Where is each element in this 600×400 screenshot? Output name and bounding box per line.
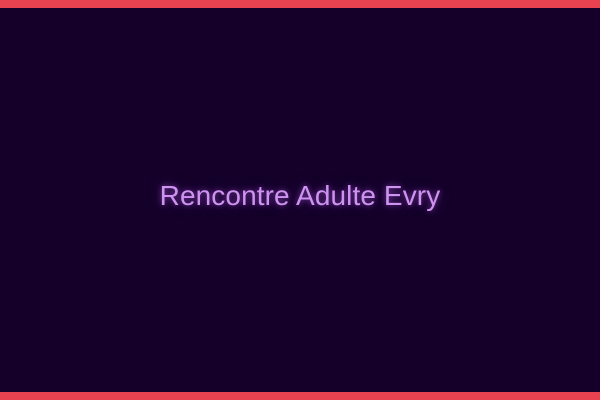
- accent-bar-bottom: [0, 392, 600, 400]
- placeholder-banner: Rencontre Adulte Evry: [0, 0, 600, 400]
- accent-bar-top: [0, 0, 600, 8]
- page-title: Rencontre Adulte Evry: [0, 178, 600, 214]
